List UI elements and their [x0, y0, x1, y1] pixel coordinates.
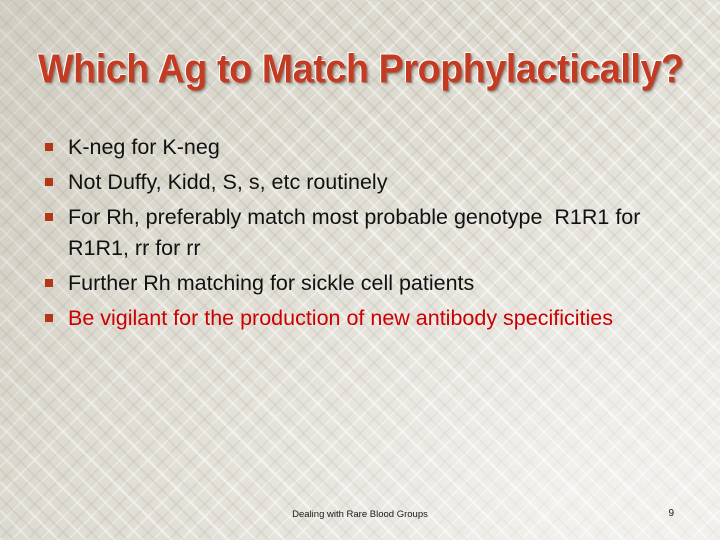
list-item: Further Rh matching for sickle cell pati… [42, 268, 662, 299]
bullet-text: Not Duffy, Kidd, S, s, etc routinely [68, 167, 662, 198]
bullet-square-icon [45, 279, 53, 287]
bullet-square-icon [45, 143, 53, 151]
bullet-square-icon [45, 178, 53, 186]
bullet-square-icon [45, 213, 53, 221]
bullet-square-icon [45, 314, 53, 322]
bullet-list: K-neg for K-neg Not Duffy, Kidd, S, s, e… [42, 132, 662, 338]
list-item: K-neg for K-neg [42, 132, 662, 163]
slide-title: Which Ag to Match Prophylactically? [38, 45, 640, 93]
list-item: For Rh, preferably match most probable g… [42, 202, 662, 264]
bullet-text: K-neg for K-neg [68, 132, 662, 163]
bullet-text: Further Rh matching for sickle cell pati… [68, 268, 662, 299]
presentation-slide: Which Ag to Match Prophylactically? K-ne… [0, 0, 720, 540]
bullet-text: For Rh, preferably match most probable g… [68, 202, 662, 264]
list-item: Not Duffy, Kidd, S, s, etc routinely [42, 167, 662, 198]
list-item: Be vigilant for the production of new an… [42, 303, 662, 334]
page-number: 9 [668, 508, 674, 519]
bullet-text: Be vigilant for the production of new an… [68, 303, 662, 334]
slide-footer: Dealing with Rare Blood Groups [0, 509, 720, 520]
